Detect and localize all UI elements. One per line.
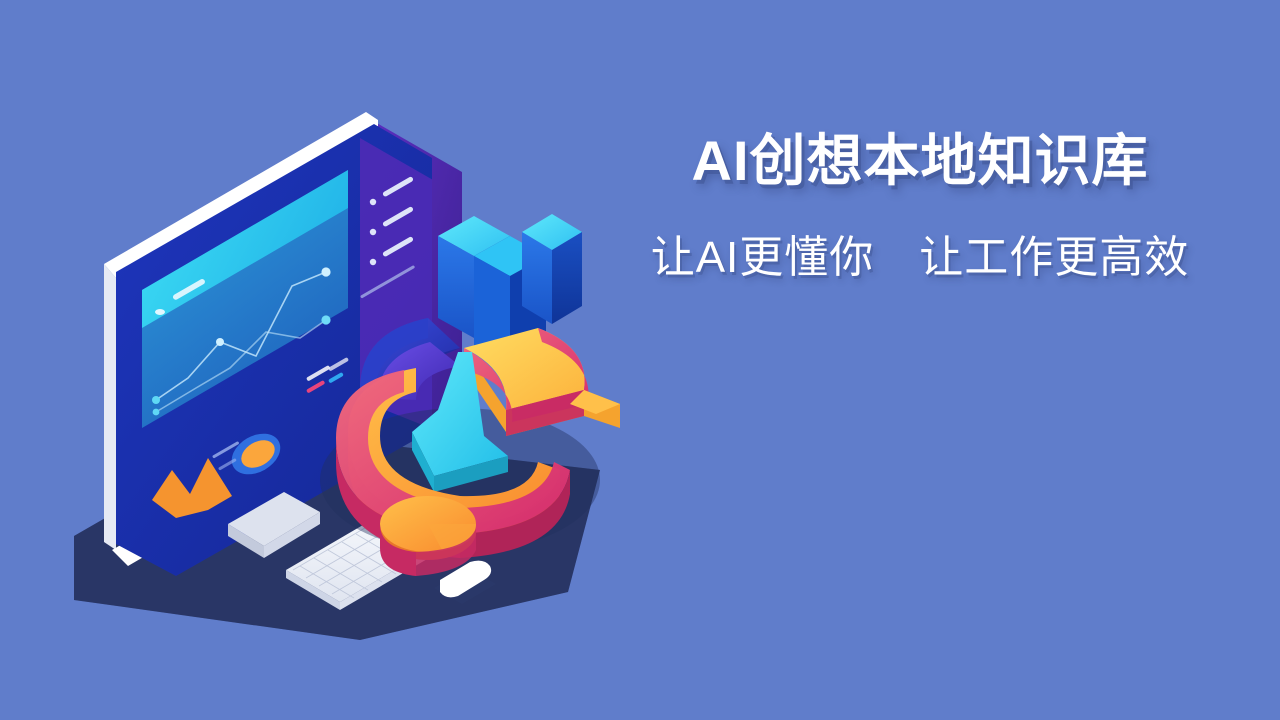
hero-text-block: AI创想本地知识库 让AI更懂你 让工作更高效: [600, 128, 1240, 285]
isometric-dashboard-illustration: [60, 80, 660, 640]
pie-small-disc: [380, 496, 476, 576]
page-title: AI创想本地知识库: [600, 128, 1240, 194]
slide-canvas: AI创想本地知识库 让AI更懂你 让工作更高效: [0, 0, 1280, 720]
page-subtitle: 让AI更懂你 让工作更高效: [600, 232, 1240, 285]
bar-3: [522, 214, 582, 324]
